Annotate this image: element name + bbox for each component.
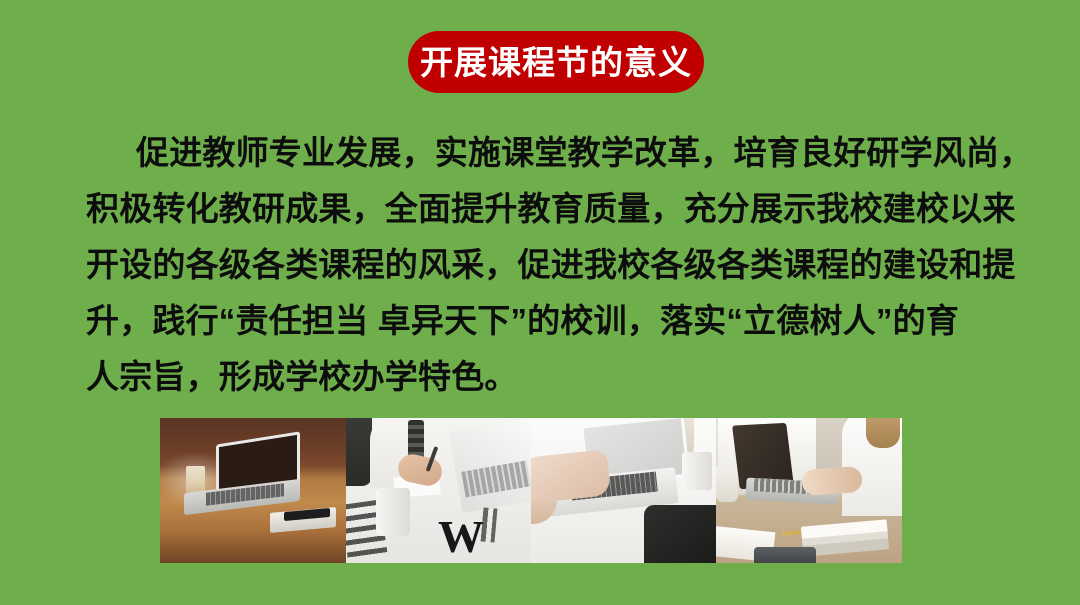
body-paragraph: 促进教师专业发展，实施课堂教学改革，培育良好研学风尚， 积极转化教研成果，全面提… [86,125,996,405]
newspaper-text-vertical-shape [481,507,498,542]
body-line-2: 积极转化教研成果，全面提升教育质量，充分展示我校建校以来 [86,181,996,237]
hand-shape [801,466,863,496]
glass-shape [716,466,738,502]
laptop-on-wooden-table-photo [160,418,346,563]
dark-object-shape [754,547,816,563]
title-badge: 开展课程节的意义 [408,31,704,93]
hair-shape [866,418,900,448]
newspaper-letter-w: W [438,514,484,560]
dark-background-shape [346,418,372,486]
body-line-5: 人宗旨，形成学校办学特色。 [86,349,996,405]
woman-typing-by-window-photo [716,418,902,563]
photo-strip: W [160,418,902,563]
cup-shape [682,452,712,490]
page-title: 开展课程节的意义 [420,46,692,79]
body-line-4: 升，践行“责任担当 卓异天下”的校训，落实“立德树人”的育 [86,293,996,349]
woman-writing-at-desk-photo: W [346,418,531,563]
slide-canvas: 开展课程节的意义 促进教师专业发展，实施课堂教学改革，培育良好研学风尚， 积极转… [0,0,1080,605]
coffee-mug-shape [376,488,410,536]
hands-typing-laptop-photo [531,418,716,563]
body-line-3: 开设的各级各类课程的风采，促进我校各级各类课程的建设和提 [86,237,996,293]
body-line-1: 促进教师专业发展，实施课堂教学改革，培育良好研学风尚， [86,125,996,181]
dark-object-shape [644,505,716,563]
